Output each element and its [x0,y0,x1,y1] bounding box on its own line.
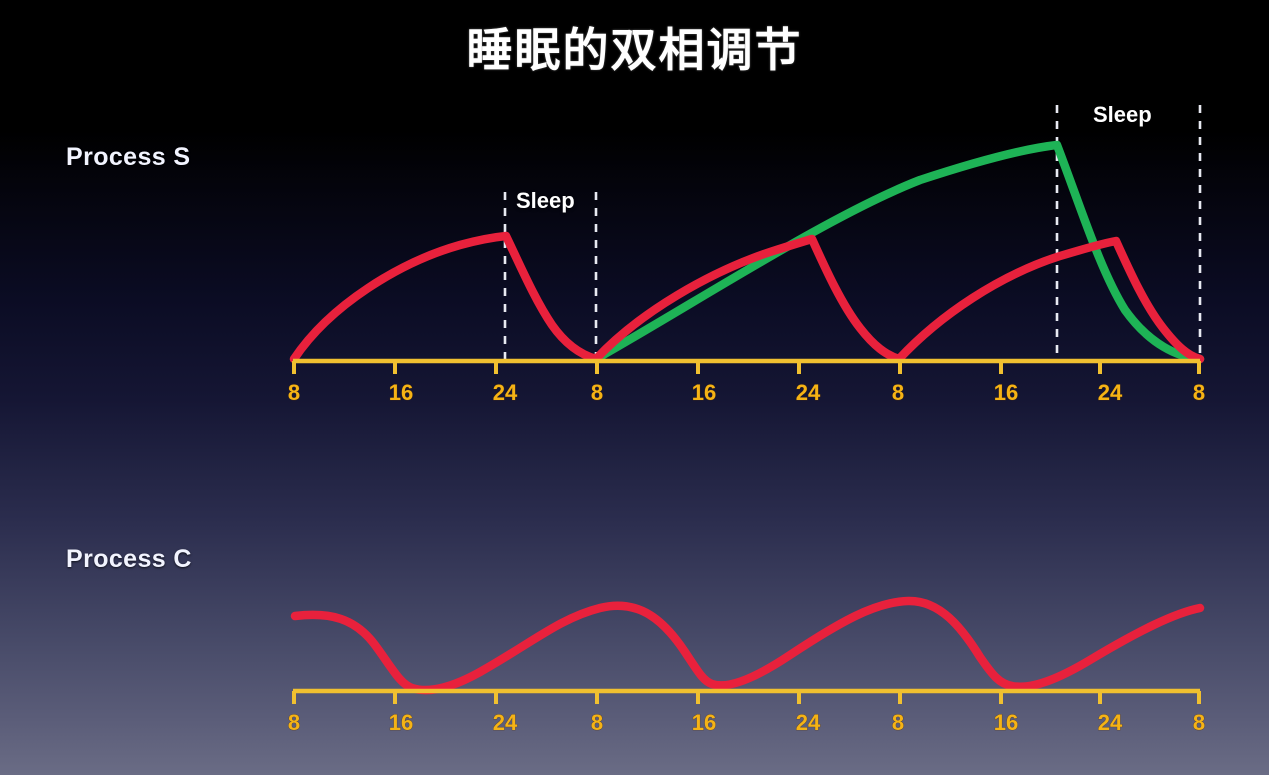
process-c-tick-labels: 8 16 24 8 16 24 8 16 24 8 [288,710,1205,735]
tick-label: 16 [692,380,716,405]
tick-label: 8 [1193,710,1205,735]
tick-label: 8 [892,380,904,405]
tick-label: 8 [1193,380,1205,405]
tick-label: 16 [994,710,1018,735]
tick-label: 24 [796,710,821,735]
process-c-panel: 8 16 24 8 16 24 8 16 24 8 [288,601,1205,735]
tick-label: 24 [1098,380,1123,405]
process-s-red-curve-cycle1 [294,236,596,359]
tick-label: 24 [493,710,518,735]
tick-label: 8 [591,380,603,405]
tick-label: 8 [288,380,300,405]
process-s-green-curve [596,145,1200,359]
process-s-tick-labels: 8 16 24 8 16 24 8 16 24 8 [288,380,1205,405]
tick-label: 16 [994,380,1018,405]
process-s-panel: 8 16 24 8 16 24 8 16 24 8 [288,105,1205,405]
tick-label: 16 [692,710,716,735]
process-c-curve [295,601,1200,690]
tick-label: 16 [389,380,413,405]
process-s-red-curve-cycle2 [596,239,899,359]
tick-label: 8 [591,710,603,735]
tick-label: 16 [389,710,413,735]
tick-label: 24 [1098,710,1123,735]
tick-label: 24 [493,380,518,405]
tick-label: 24 [796,380,821,405]
slide-canvas: 睡眠的双相调节 Process S Process C Sleep Sleep [0,0,1269,775]
tick-label: 8 [892,710,904,735]
tick-label: 8 [288,710,300,735]
two-process-model-chart: 8 16 24 8 16 24 8 16 24 8 [0,0,1269,775]
